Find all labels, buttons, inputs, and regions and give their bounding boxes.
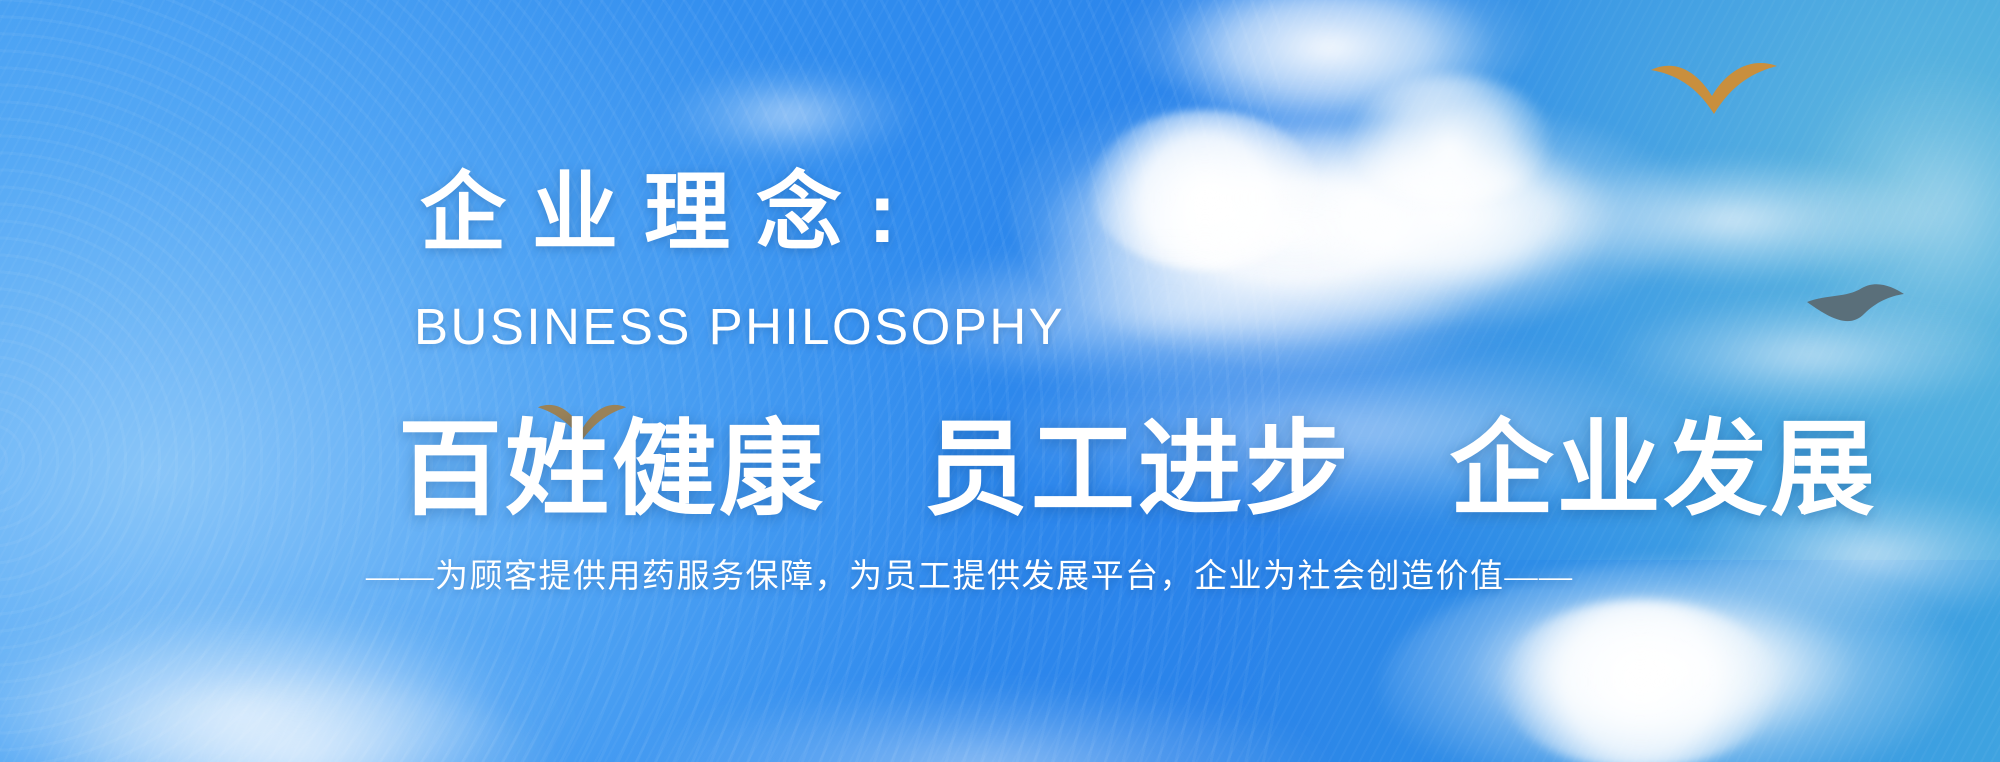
page-title-cn: 企业理念: [420, 168, 923, 258]
business-philosophy-banner: 企业理念: BUSINESS PHILOSOPHY 百姓健康 员工进步 企业发展… [0, 0, 2000, 762]
slogan-part-1: 百姓健康 [398, 412, 826, 528]
page-subtitle-en: BUSINESS PHILOSOPHY [414, 300, 1065, 354]
slogan-part-3: 企业发展 [1450, 412, 1878, 528]
banner-text-content: 企业理念: BUSINESS PHILOSOPHY 百姓健康 员工进步 企业发展… [0, 0, 2000, 762]
slogan-line: 百姓健康 员工进步 企业发展 [398, 414, 1878, 526]
slogan-part-2: 员工进步 [924, 412, 1352, 528]
tagline: ——为顾客提供用药服务保障，为员工提供发展平台，企业为社会创造价值—— [366, 556, 1574, 599]
